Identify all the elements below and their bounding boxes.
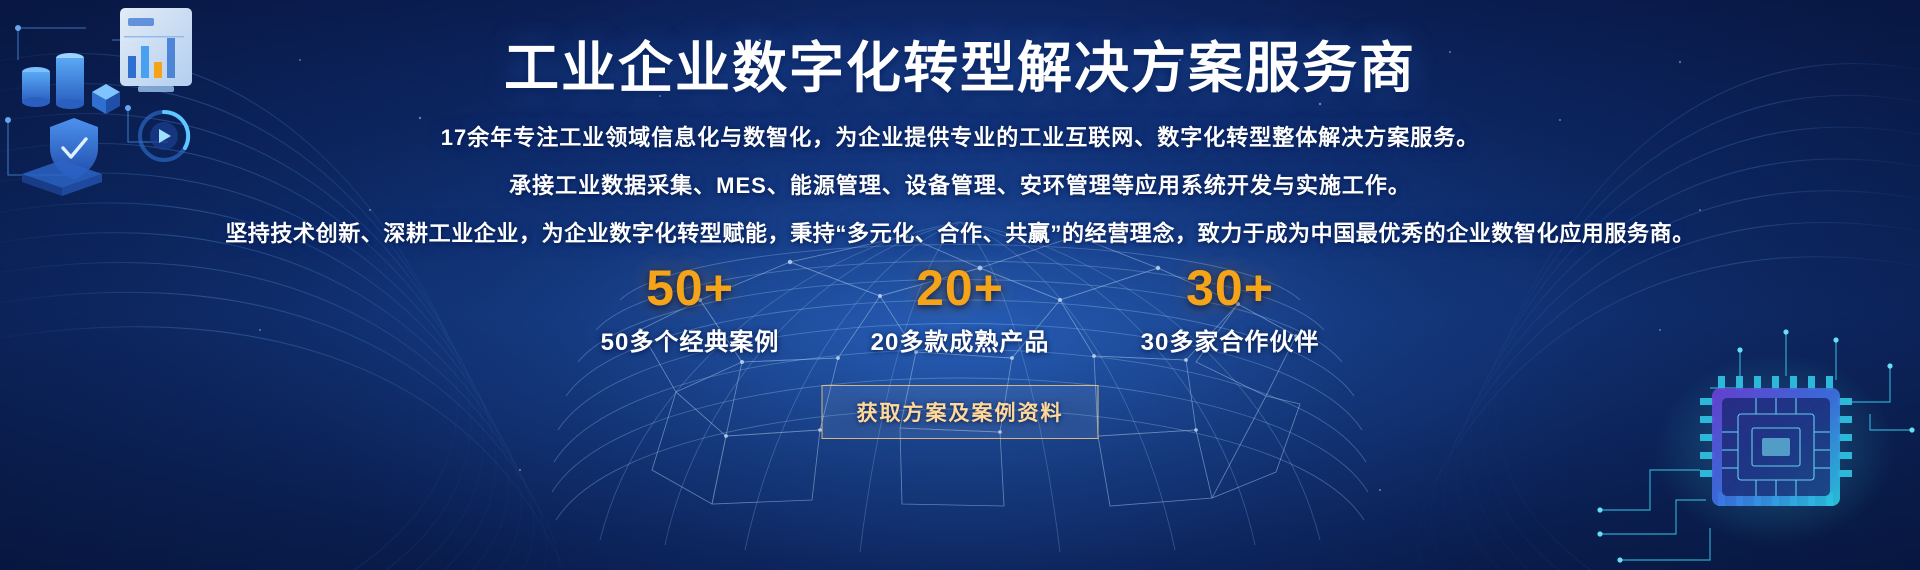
stat-label: 50多个经典案例 — [555, 322, 825, 357]
subtitle-line-2: 承接工业数据采集、MES、能源管理、设备管理、安环管理等应用系统开发与实施工作。 — [0, 168, 1920, 200]
subtitle-line-1: 17余年专注工业领域信息化与数智化，为企业提供专业的工业互联网、数字化转型整体解… — [0, 120, 1920, 152]
stat-number: 30+ — [1095, 258, 1365, 318]
stat-item-cases: 50+ 50多个经典案例 — [555, 258, 825, 357]
subtitle-line-3: 坚持技术创新、深耕工业企业，为企业数字化转型赋能，秉持“多元化、合作、共赢”的经… — [0, 216, 1920, 248]
stat-label: 20多款成熟产品 — [825, 322, 1095, 357]
stat-item-partners: 30+ 30多家合作伙伴 — [1095, 258, 1365, 357]
hero-banner: 工业企业数字化转型解决方案服务商 17余年专注工业领域信息化与数智化，为企业提供… — [0, 0, 1920, 570]
stats-row: 50+ 50多个经典案例 20+ 20多款成熟产品 30+ 30多家合作伙伴 — [0, 258, 1920, 357]
page-title: 工业企业数字化转型解决方案服务商 — [0, 38, 1920, 98]
banner-content: 工业企业数字化转型解决方案服务商 17余年专注工业领域信息化与数智化，为企业提供… — [0, 0, 1920, 570]
get-solution-button[interactable]: 获取方案及案例资料 — [822, 385, 1099, 439]
stat-number: 50+ — [555, 258, 825, 318]
stat-item-products: 20+ 20多款成熟产品 — [825, 258, 1095, 357]
stat-number: 20+ — [825, 258, 1095, 318]
stat-label: 30多家合作伙伴 — [1095, 322, 1365, 357]
